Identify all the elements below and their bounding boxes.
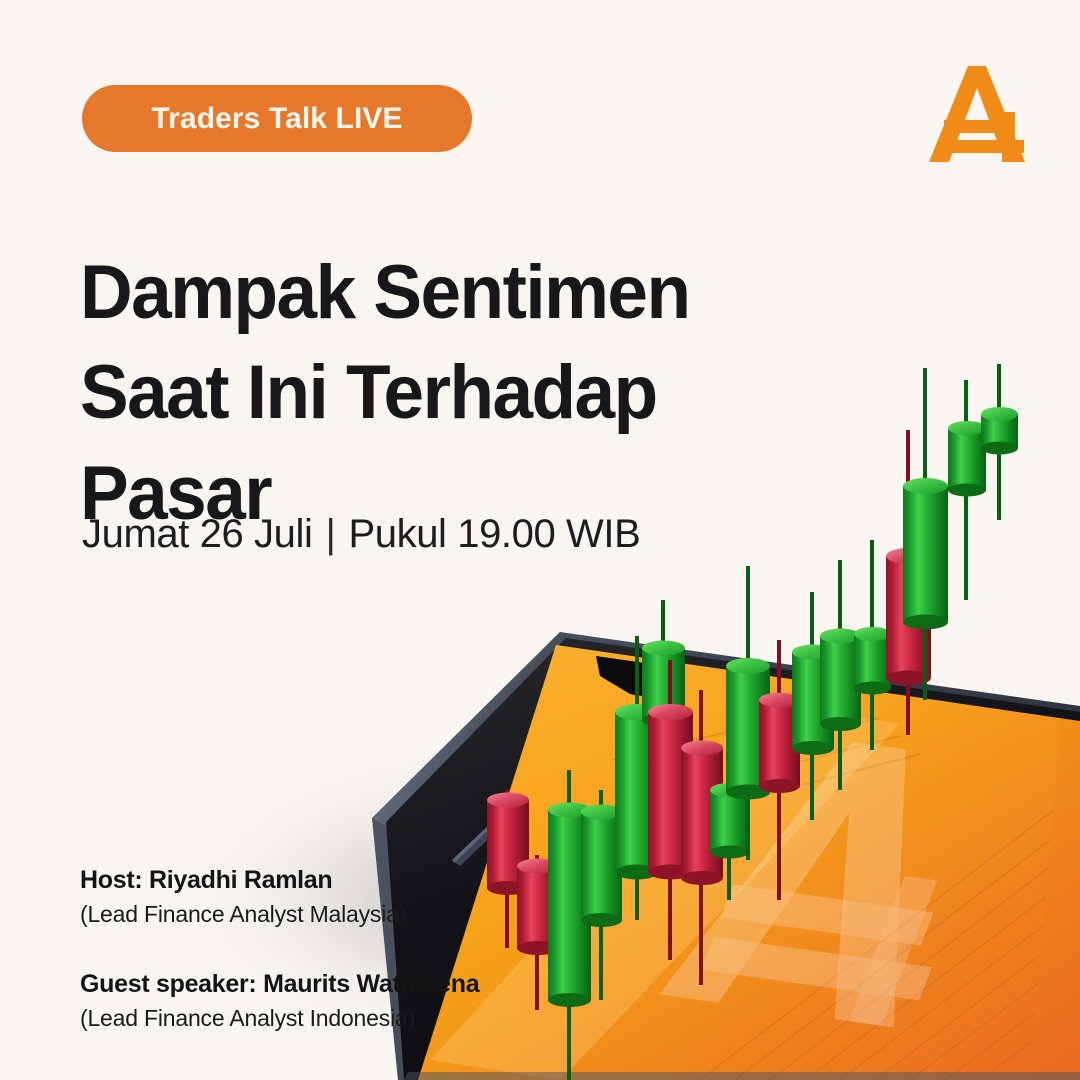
page-title: Dampak Sentimen Saat Ini Terhadap Pasar bbox=[80, 243, 771, 544]
schedule-separator: | bbox=[325, 512, 335, 557]
host-name: Host: Riyadhi Ramlan bbox=[80, 866, 479, 895]
brand-a-watermark-icon bbox=[659, 729, 1010, 1029]
poster-canvas: Traders Talk LIVE Dampak Sentimen Saat I… bbox=[0, 0, 1080, 1080]
headline-line-2: Saat Ini Terhadap bbox=[80, 343, 771, 443]
schedule-time: Pukul 19.00 WIB bbox=[348, 512, 640, 557]
schedule-date: Jumat 26 Juli bbox=[82, 512, 312, 557]
device-floor-shadow-core bbox=[430, 840, 990, 1080]
host-role: (Lead Finance Analyst Malaysia) bbox=[80, 901, 479, 928]
speakers-block: Host: Riyadhi Ramlan (Lead Finance Analy… bbox=[80, 866, 479, 1032]
headline-line-1: Dampak Sentimen bbox=[80, 243, 771, 343]
speakers-spacer bbox=[80, 928, 479, 970]
guest-role: (Lead Finance Analyst Indonesia) bbox=[80, 1005, 479, 1032]
live-badge-label: Traders Talk LIVE bbox=[151, 102, 402, 136]
guest-name: Guest speaker: Maurits Wattimena bbox=[80, 970, 479, 999]
brand-a-logo-icon bbox=[926, 58, 1036, 170]
schedule-line: Jumat 26 Juli | Pukul 19.00 WIB bbox=[82, 512, 640, 557]
live-badge[interactable]: Traders Talk LIVE bbox=[82, 85, 472, 152]
